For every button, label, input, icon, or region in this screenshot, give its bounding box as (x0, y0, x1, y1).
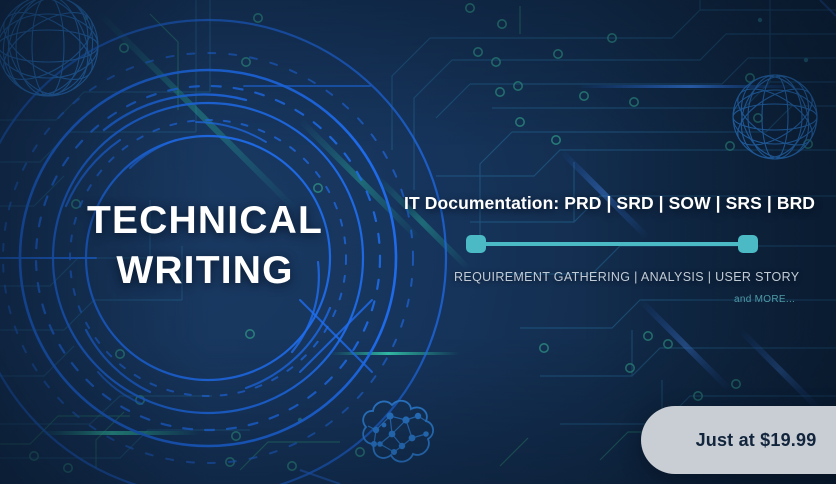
title-line-1: TECHNICAL (0, 196, 410, 246)
range-slider[interactable] (466, 235, 758, 253)
slider-handle-right[interactable] (738, 235, 758, 253)
slider-track (476, 242, 748, 246)
price-button[interactable]: Just at $19.99 (641, 406, 836, 474)
service-details-block: IT Documentation: PRD | SRD | SOW | SRS … (404, 193, 824, 305)
subline-text: REQUIREMENT GATHERING | ANALYSIS | USER … (454, 270, 824, 284)
technical-writing-banner: TECHNICAL WRITING IT Documentation: PRD … (0, 0, 836, 484)
headline-text: IT Documentation: PRD | SRD | SOW | SRS … (404, 193, 824, 214)
slider-handle-left[interactable] (466, 235, 486, 253)
and-more-label: and MORE... (734, 294, 824, 305)
title-line-2: WRITING (0, 246, 410, 296)
page-title: TECHNICAL WRITING (0, 196, 410, 296)
